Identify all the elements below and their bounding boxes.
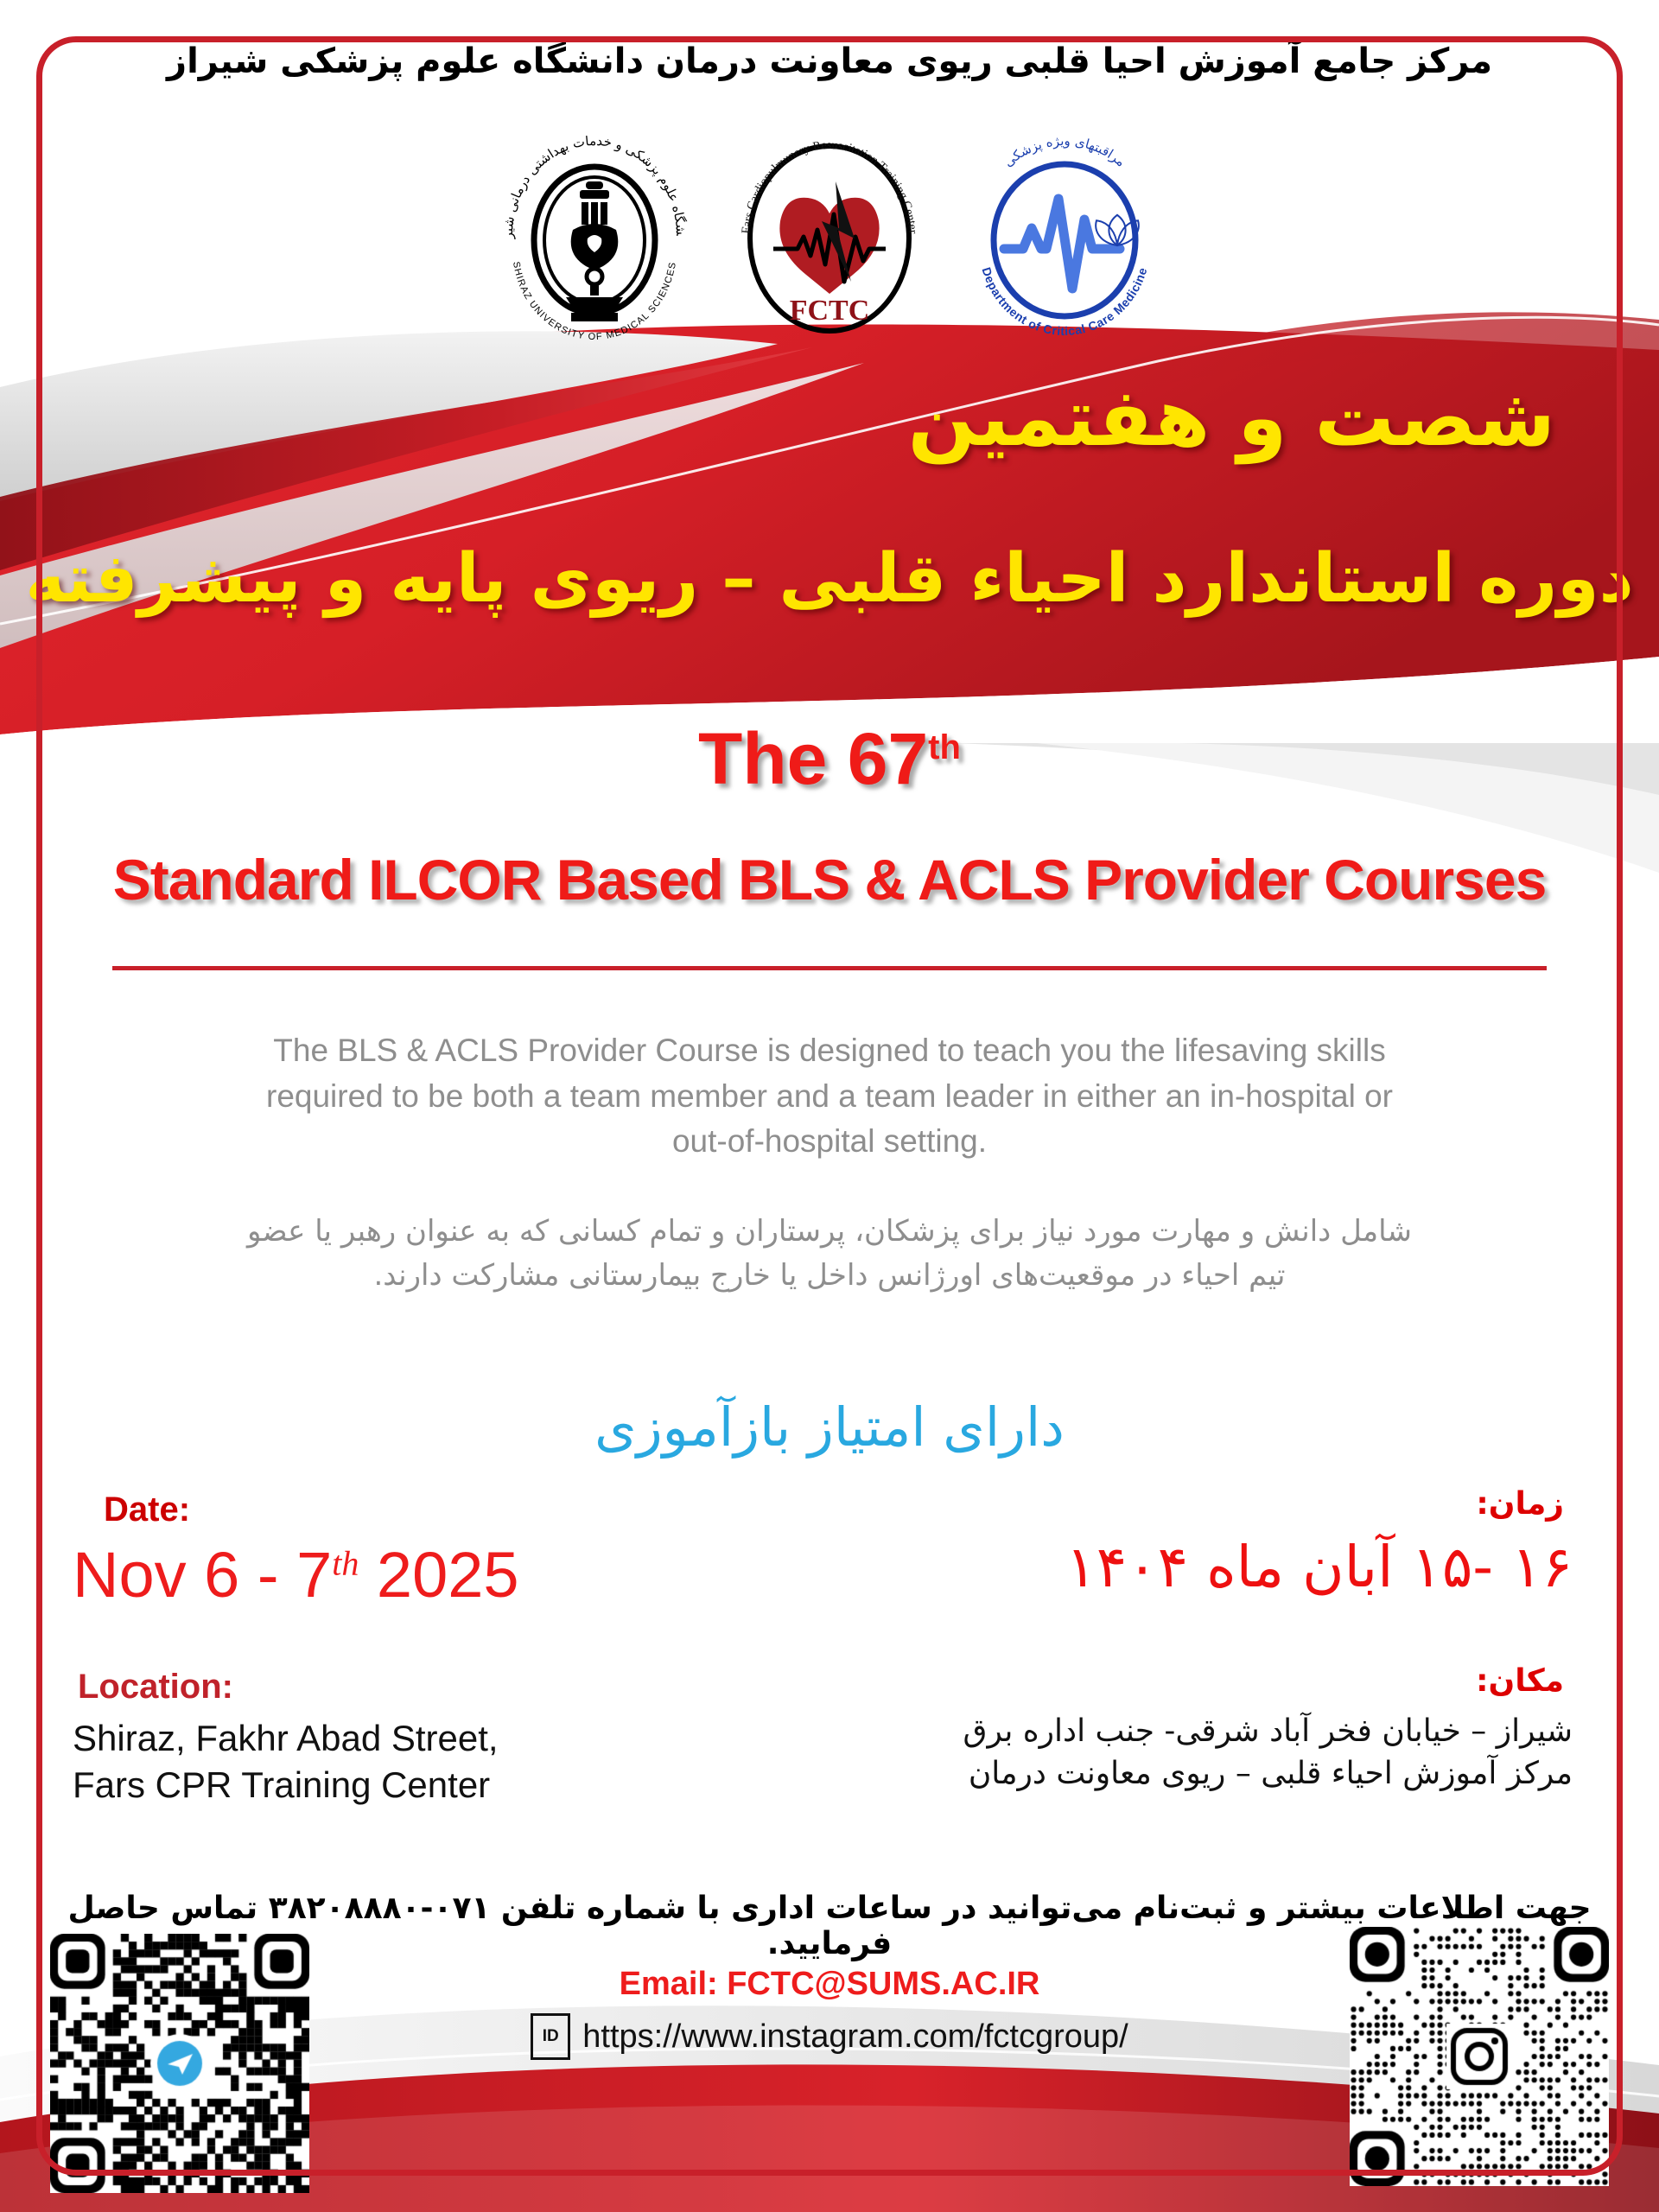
location-label-text: Location bbox=[78, 1668, 222, 1706]
location-line1-en: Shiraz, Fakhr Abad Street, bbox=[73, 1715, 499, 1762]
date-ordinal-suffix: th bbox=[332, 1543, 359, 1582]
date-label-text: Date bbox=[104, 1491, 179, 1529]
date-year: 2025 bbox=[377, 1539, 519, 1611]
telegram-qr-code[interactable] bbox=[50, 1934, 309, 2193]
instagram-url[interactable]: https://www.instagram.com/fctcgroup/ bbox=[582, 2018, 1128, 2056]
retraining-credit-badge: دارای امتیاز بازآموزی bbox=[0, 1395, 1659, 1459]
page-title: مرکز جامع آموزش احیا قلبی ریوی معاونت در… bbox=[0, 41, 1659, 81]
department-of-critical-care-medicine-logo: Department of Critical Care Medicine مرا… bbox=[957, 128, 1173, 344]
the-word: The bbox=[698, 718, 827, 799]
course-subtitle-en: Standard ILCOR Based BLS & ACLS Provider… bbox=[0, 847, 1659, 912]
location-value-fa: شیراز – خیابان فخر آباد شرقی- جنب اداره … bbox=[963, 1711, 1573, 1795]
course-ordinal-en: The 67th bbox=[0, 717, 1659, 801]
course-name-fa: دوره استاندارد احیاء قلبی – ریوی پایه و … bbox=[0, 540, 1659, 618]
description-fa-line1: شامل دانش و مهارت مورد نیاز برای پزشکان،… bbox=[156, 1210, 1503, 1254]
time-label-fa: زمان: bbox=[1476, 1486, 1564, 1522]
description-fa: شامل دانش و مهارت مورد نیاز برای پزشکان،… bbox=[156, 1210, 1503, 1298]
description-en: The BLS & ACLS Provider Course is design… bbox=[259, 1028, 1400, 1165]
shiraz-university-of-medical-sciences-logo: SHIRAZ UNIVERSITY OF MEDICAL SCIENCES دا… bbox=[486, 128, 702, 344]
location-value-en: Shiraz, Fakhr Abad Street, Fars CPR Trai… bbox=[73, 1715, 499, 1808]
location-line2-en: Fars CPR Training Center bbox=[73, 1762, 499, 1808]
divider bbox=[112, 966, 1547, 970]
id-badge-icon: ID bbox=[531, 2013, 570, 2060]
date-range: Nov 6 - 7 bbox=[73, 1539, 332, 1611]
location-label-en: Location: bbox=[78, 1668, 233, 1707]
fars-cpr-training-center-logo: FCTC Fars Cardiopulmunery Resuscitation … bbox=[721, 128, 938, 344]
location-line2-fa: مرکز آموزش احیاء قلبی – ریوی معاونت درما… bbox=[963, 1753, 1573, 1796]
description-fa-line2: تیم احیاء در موقعیت‌های اورژانس داخل یا … bbox=[156, 1254, 1503, 1298]
instagram-qr-code[interactable] bbox=[1350, 1927, 1609, 2186]
course-ordinal-fa: شصت و هفتمین bbox=[908, 372, 1555, 464]
logo-row: SHIRAZ UNIVERSITY OF MEDICAL SCIENCES دا… bbox=[0, 121, 1659, 350]
location-label-fa: مکان: bbox=[1476, 1663, 1564, 1699]
red-wave-banner bbox=[0, 285, 1659, 769]
poster-root: مرکز جامع آموزش احیا قلبی ریوی معاونت در… bbox=[0, 0, 1659, 2212]
date-label-en: Date: bbox=[104, 1491, 190, 1529]
course-number: 67 bbox=[848, 718, 928, 799]
ordinal-suffix: th bbox=[928, 728, 961, 766]
date-value-en: Nov 6 - 7th 2025 bbox=[73, 1538, 519, 1611]
svg-text:FCTC: FCTC bbox=[790, 295, 870, 327]
location-line1-fa: شیراز – خیابان فخر آباد شرقی- جنب اداره … bbox=[963, 1711, 1573, 1753]
time-value-fa: ۱۶ -۱۵ آبان ماه ۱۴۰۴ bbox=[1065, 1534, 1573, 1600]
